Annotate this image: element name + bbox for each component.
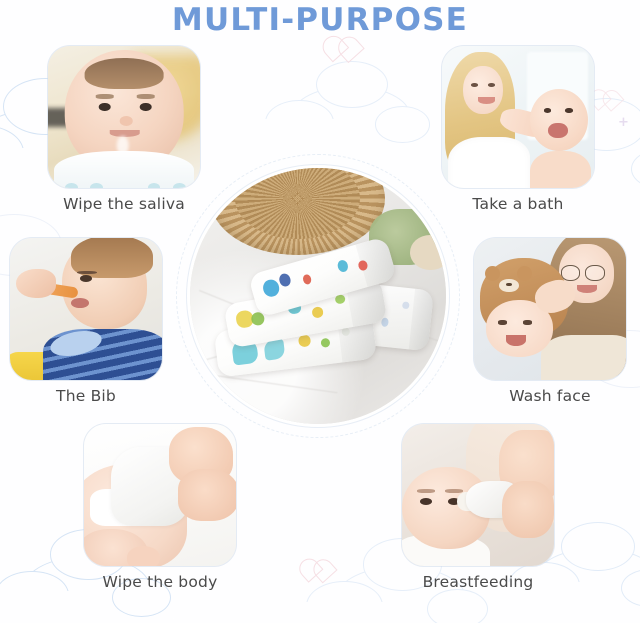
feature-thumbnail-saliva[interactable]	[48, 46, 200, 188]
feature-caption: Take a bath	[438, 195, 598, 213]
page-title: MULTI-PURPOSE	[0, 2, 640, 38]
infographic-canvas: + + MULTI-PURPOSE	[0, 0, 640, 623]
feature-the-bib[interactable]: The Bib	[6, 238, 166, 405]
feature-take-a-bath[interactable]: Take a bath	[438, 46, 598, 213]
feature-thumbnail-wipe-body[interactable]	[84, 424, 236, 566]
heart-icon	[302, 562, 330, 590]
feature-wipe-the-saliva[interactable]: Wipe the saliva	[44, 46, 204, 213]
feature-caption: The Bib	[6, 387, 166, 405]
center-product-image	[190, 168, 446, 424]
feature-wash-face[interactable]: Wash face	[470, 238, 630, 405]
feature-breastfeeding[interactable]: Breastfeeding	[398, 424, 558, 591]
feature-caption: Wipe the body	[80, 573, 240, 591]
feature-thumbnail-wash-face[interactable]	[474, 238, 626, 380]
cloud-icon	[292, 86, 410, 144]
feature-caption: Breastfeeding	[398, 573, 558, 591]
sparkle-icon: +	[618, 116, 629, 129]
feature-thumbnail-breastfeeding[interactable]	[402, 424, 554, 566]
feature-thumbnail-bath[interactable]	[442, 46, 594, 188]
feature-caption: Wash face	[470, 387, 630, 405]
heart-icon	[325, 39, 356, 70]
plant-decoration	[410, 235, 446, 271]
feature-wipe-the-body[interactable]: Wipe the body	[80, 424, 240, 591]
feature-thumbnail-bib[interactable]	[10, 238, 162, 380]
feature-caption: Wipe the saliva	[44, 195, 204, 213]
